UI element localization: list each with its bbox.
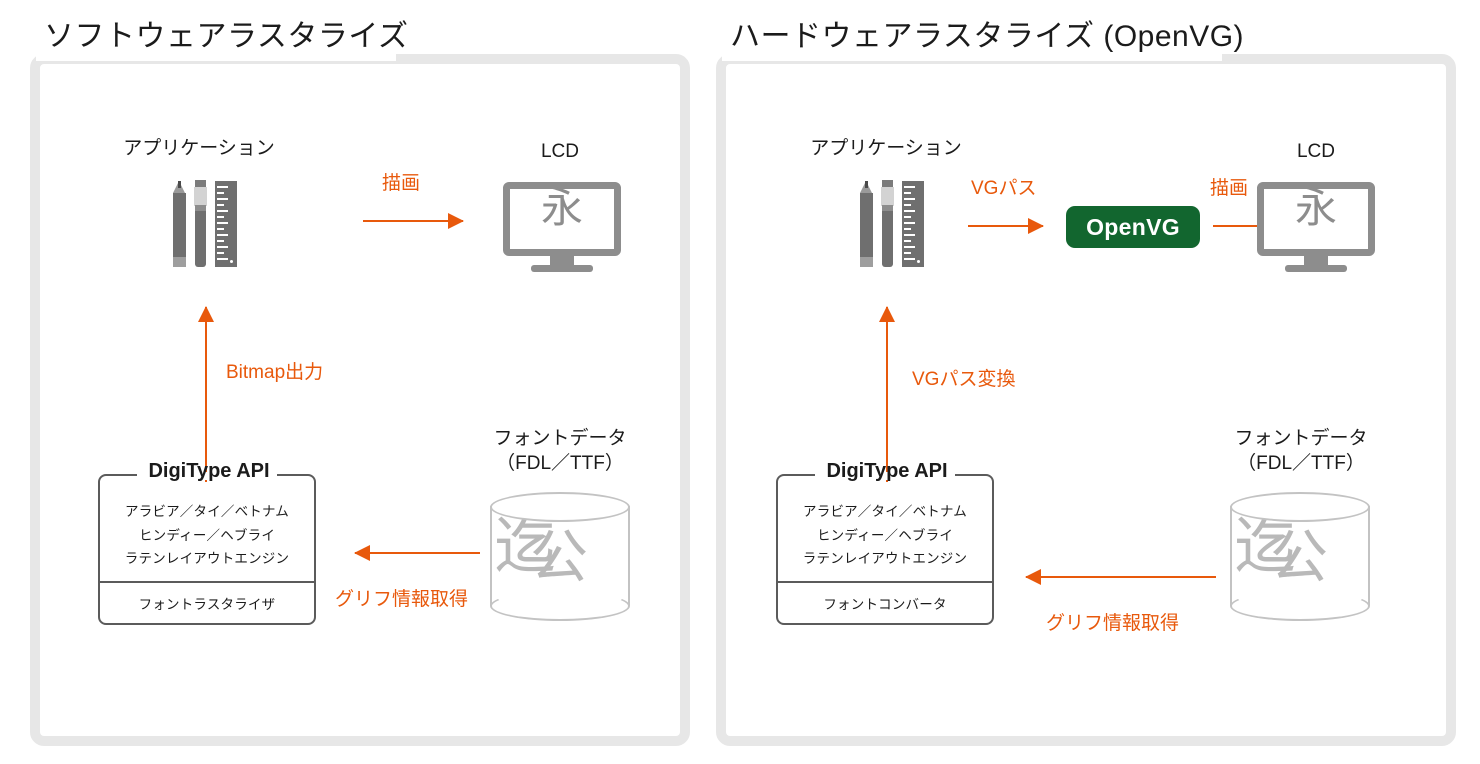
cylinder-glyphs: 迄 公: [490, 510, 630, 610]
lcd-base: [531, 265, 593, 272]
lcd-icon-software: 永: [503, 182, 621, 274]
pencil-body: [173, 193, 186, 257]
lcd-icon-hardware: 永: [1257, 182, 1375, 274]
ruler-hole: [917, 260, 920, 263]
fontdata-line1: フォントデータ: [1181, 427, 1421, 452]
digitype-api-features-software: アラビア／タイ／ベトナム ヒンディー／ヘブライ ラテンレイアウトエンジン: [106, 494, 308, 581]
digitype-api-features-hardware: アラビア／タイ／ベトナム ヒンディー／ヘブライ ラテンレイアウトエンジン: [784, 494, 986, 581]
api-feature: アラビア／タイ／ベトナム: [106, 500, 308, 524]
arrow-label-glyph-fetch-software: グリフ情報取得: [335, 590, 468, 609]
pencil-ferrule: [860, 257, 873, 267]
pencil-lead: [178, 181, 181, 188]
arrow-label-vgpath: VGパス: [971, 179, 1036, 198]
arrow-label-vgpath-convert: VGパス変換: [912, 370, 1015, 389]
lcd-label-software: LCD: [480, 140, 640, 164]
arrow-label-draw-software: 描画: [382, 174, 420, 193]
ruler: [902, 181, 924, 267]
panel-hardware: ハードウェアラスタライズ (OpenVG) アプリケーション: [716, 22, 1456, 734]
api-feature: ラテンレイアウトエンジン: [106, 547, 308, 571]
diagram-canvas: ソフトウェアラスタライズ アプリケーション: [0, 0, 1480, 764]
cylinder-glyph-2: 公: [530, 528, 588, 586]
ruler: [215, 181, 237, 267]
ruler-hole: [230, 260, 233, 263]
arrow-label-glyph-fetch-hardware: グリフ情報取得: [1046, 614, 1179, 633]
lcd-label-hardware: LCD: [1236, 140, 1396, 164]
lcd-glyph-software: 永: [503, 187, 621, 229]
digitype-api-frame: DigiType API アラビア／タイ／ベトナム ヒンディー／ヘブライ ラテン…: [98, 474, 316, 625]
digitype-api-footer-hardware: フォントコンバータ: [784, 583, 986, 623]
drawing-tools-icon: [167, 177, 239, 271]
fontdata-line1: フォントデータ: [445, 427, 675, 452]
digitype-api-box-hardware: DigiType API アラビア／タイ／ベトナム ヒンディー／ヘブライ ラテン…: [776, 474, 994, 625]
fontdata-label-hardware: フォントデータ （FDL／TTF）: [1181, 427, 1421, 476]
fontdata-cylinder-hardware: 迄 公: [1230, 492, 1370, 620]
digitype-api-box-software: DigiType API アラビア／タイ／ベトナム ヒンディー／ヘブライ ラテン…: [98, 474, 316, 625]
api-feature: アラビア／タイ／ベトナム: [784, 500, 986, 524]
api-feature: ラテンレイアウトエンジン: [784, 547, 986, 571]
lcd-glyph-hardware: 永: [1257, 187, 1375, 229]
fontdata-label-software: フォントデータ （FDL／TTF）: [445, 427, 675, 476]
cylinder-top: [1230, 492, 1370, 522]
cylinder-glyphs: 迄 公: [1230, 510, 1370, 610]
pencil-lead: [865, 181, 868, 188]
digitype-api-frame: DigiType API アラビア／タイ／ベトナム ヒンディー／ヘブライ ラテン…: [776, 474, 994, 625]
brush-handle: [195, 211, 206, 267]
app-label-hardware: アプリケーション: [771, 137, 1001, 161]
pencil-body: [860, 193, 873, 257]
openvg-badge: OpenVG: [1066, 206, 1200, 248]
digitype-api-title-hardware: DigiType API: [778, 461, 996, 481]
brush-hair: [194, 187, 207, 206]
pencil-ferrule: [173, 257, 186, 267]
digitype-api-footer-software: フォントラスタライザ: [106, 583, 308, 623]
app-label-software: アプリケーション: [84, 137, 314, 161]
cylinder-top: [490, 492, 630, 522]
fontdata-line2: （FDL／TTF）: [445, 452, 675, 477]
drawing-tools-icon: [854, 177, 926, 271]
brush-hair: [881, 187, 894, 206]
api-feature: ヒンディー／ヘブライ: [784, 524, 986, 548]
api-feature: ヒンディー／ヘブライ: [106, 524, 308, 548]
arrow-label-draw-hardware: 描画: [1210, 179, 1248, 198]
arrow-label-bitmap-output: Bitmap出力: [226, 363, 323, 382]
panel-title-hardware: ハードウェアラスタライズ (OpenVG): [730, 22, 1252, 52]
fontdata-line2: （FDL／TTF）: [1181, 452, 1421, 477]
lcd-base: [1285, 265, 1347, 272]
digitype-api-title-software: DigiType API: [100, 461, 318, 481]
panel-title-software: ソフトウェアラスタライズ: [44, 22, 417, 52]
fontdata-cylinder-software: 迄 公: [490, 492, 630, 620]
cylinder-glyph-2: 公: [1270, 528, 1328, 586]
brush-handle: [882, 211, 893, 267]
panel-software: ソフトウェアラスタライズ アプリケーション: [30, 22, 690, 734]
